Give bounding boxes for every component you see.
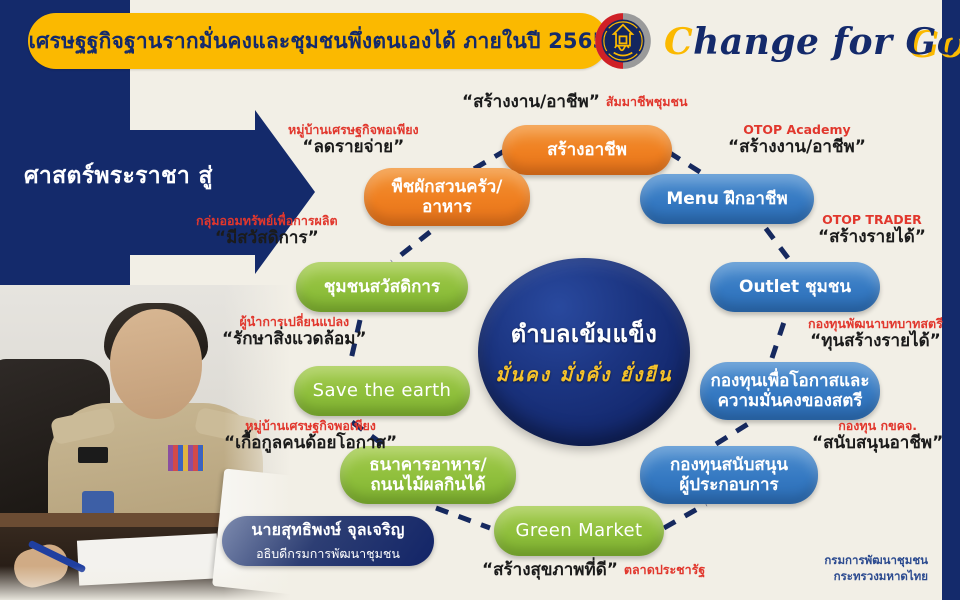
node-food-bank-fruit-road[interactable]: ธนาคารอาหาร/ถนนไม้ผลกินได้: [340, 446, 516, 504]
node-label: Save the earth: [313, 380, 452, 401]
annotation-pracharat-market: “สร้างสุขภาพที่ดี”ตลาดประชารัฐ: [482, 560, 705, 581]
node-label: กองทุนสนับสนุนผู้ประกอบการ: [670, 455, 788, 495]
photo-fade-bottom: [0, 566, 300, 600]
node-label: กองทุนเพื่อโอกาสและความมั่นคงของสตรี: [711, 371, 870, 411]
official-nameplate: นายสุทธิพงษ์ จุลเจริญ อธิบดีกรมการพัฒนาช…: [222, 516, 434, 566]
node-label: พืชผักสวนครัว/อาหาร: [392, 177, 503, 217]
annotation-otop-trader: OTOP TRADER“สร้างรายได้”: [818, 212, 926, 248]
annotation-quote: “เกื้อกูลคนด้อยโอกาส”: [224, 433, 397, 454]
annotation-source: ตลาดประชารัฐ: [624, 562, 705, 577]
annotation-source: ผู้นำการเปลี่ยนแปลง: [222, 314, 367, 329]
annotation-change-leader: ผู้นำการเปลี่ยนแปลง“รักษาสิ่งแวดล้อม”: [222, 314, 367, 350]
node-label: สร้างอาชีพ: [547, 140, 627, 160]
cdd-emblem-icon: [594, 12, 652, 70]
annotation-quote: “สร้างรายได้”: [818, 227, 926, 248]
node-label: Outlet ชุมชน: [739, 277, 851, 297]
annotation-source: หมู่บ้านเศรษฐกิจพอเพียง: [224, 418, 397, 433]
annotation-womens-role-fund: กองทุนพัฒนาบทบาทสตรี“ทุนสร้างรายได้”: [808, 316, 943, 352]
node-menu-vocational-training[interactable]: Menu ฝึกอาชีพ: [640, 174, 814, 224]
annotation-quote: “สร้างงาน/อาชีพ”: [728, 137, 866, 158]
annotation-source: OTOP TRADER: [818, 212, 926, 227]
annotation-quote: “มีสวัสดิการ”: [196, 228, 338, 249]
official-name: นายสุทธิพงษ์ จุลเจริญ: [251, 518, 404, 543]
brand-letter-g: G: [905, 21, 936, 63]
annotation-source: กองทุน กขคจ.: [812, 418, 943, 433]
hub-title: ตำบลเข้มแข็ง: [511, 314, 658, 353]
annotation-source: หมู่บ้านเศรษฐกิจพอเพียง: [288, 122, 419, 137]
header-banner-text: เศรษฐฐกิจฐานรากมั่นคงและชุมชนพึ่งตนเองได…: [29, 25, 608, 58]
node-label: ชุมชนสวัสดิการ: [324, 277, 440, 297]
central-hub-circle: ตำบลเข้มแข็ง มั่นคง มั่งคั่ง ยั่งยืน: [478, 258, 690, 446]
annotation-sufficiency-village-support: หมู่บ้านเศรษฐกิจพอเพียง“เกื้อกูลคนด้อยโอ…: [224, 418, 397, 454]
photo-ribbon-bar: [168, 445, 204, 471]
node-green-market[interactable]: Green Market: [494, 506, 664, 556]
annotation-quote: “ลดรายจ่าย”: [288, 137, 419, 158]
annotation-sufficiency-village-expense: หมู่บ้านเศรษฐกิจพอเพียง“ลดรายจ่าย”: [288, 122, 419, 158]
annotation-quote: “สร้างงาน/อาชีพ”: [462, 92, 600, 112]
annotation-quote: “ทุนสร้างรายได้”: [808, 331, 943, 352]
credit-ministry: กระทรวงมหาดไทย: [824, 568, 928, 584]
header-banner: เศรษฐฐกิจฐานรากมั่นคงและชุมชนพึ่งตนเองได…: [28, 13, 608, 69]
node-save-the-earth[interactable]: Save the earth: [294, 366, 470, 416]
annotation-source: สัมมาชีพชุมชน: [606, 94, 688, 109]
annotation-otop-academy: OTOP Academy“สร้างงาน/อาชีพ”: [728, 122, 866, 158]
annotation-source: OTOP Academy: [728, 122, 866, 137]
node-sang-achip[interactable]: สร้างอาชีพ: [502, 125, 672, 175]
node-entrepreneur-support-fund[interactable]: กองทุนสนับสนุนผู้ประกอบการ: [640, 446, 818, 504]
brand-word-for: for: [832, 21, 892, 63]
annotation-sammachip: “สร้างงาน/อาชีพ”สัมมาชีพชุมชน: [462, 92, 688, 113]
node-community-welfare[interactable]: ชุมชนสวัสดิการ: [296, 262, 468, 312]
background-navy-right: [942, 0, 960, 600]
node-community-outlet[interactable]: Outlet ชุมชน: [710, 262, 880, 312]
annotation-quote: “สร้างสุขภาพที่ดี”: [482, 560, 618, 580]
brand-word-ood: ood: [937, 21, 960, 63]
annotation-quote: “รักษาสิ่งแวดล้อม”: [222, 329, 367, 350]
official-position: อธิบดีกรมการพัฒนาชุมชน: [256, 544, 400, 564]
footer-credit: กรมการพัฒนาชุมชน กระทรวงมหาดไทย: [824, 552, 928, 584]
royal-science-arrow-label: ศาสตร์พระราชา สู่: [24, 158, 254, 194]
annotation-source: กลุ่มออมทรัพย์เพื่อการผลิต: [196, 213, 338, 228]
brand-letter-c: C: [664, 21, 693, 63]
annotation-quote: “สนับสนุนอาชีพ”: [812, 433, 943, 454]
node-label: ธนาคารอาหาร/ถนนไม้ผลกินได้: [369, 455, 486, 495]
annotation-source: กองทุนพัฒนาบทบาทสตรี: [808, 316, 943, 331]
node-women-opportunity-fund[interactable]: กองทุนเพื่อโอกาสและความมั่นคงของสตรี: [700, 362, 880, 420]
node-kitchen-garden-food[interactable]: พืชผักสวนครัว/อาหาร: [364, 168, 530, 226]
photo-name-badge: [78, 447, 108, 463]
change-for-good-wordmark: Change for Good: [664, 16, 960, 68]
credit-department: กรมการพัฒนาชุมชน: [824, 552, 928, 568]
infographic-canvas: ศาสตร์พระราชา สู่: [0, 0, 960, 600]
annotation-kokhokhoj-fund: กองทุน กขคจ.“สนับสนุนอาชีพ”: [812, 418, 943, 454]
photo-face: [110, 309, 202, 419]
node-label: Green Market: [516, 520, 643, 541]
node-label: Menu ฝึกอาชีพ: [666, 189, 787, 209]
hub-subtitle: มั่นคง มั่งคั่ง ยั่งยืน: [495, 360, 672, 390]
annotation-savings-group: กลุ่มออมทรัพย์เพื่อการผลิต“มีสวัสดิการ”: [196, 213, 338, 249]
brand-word-hange: hange: [693, 21, 819, 63]
